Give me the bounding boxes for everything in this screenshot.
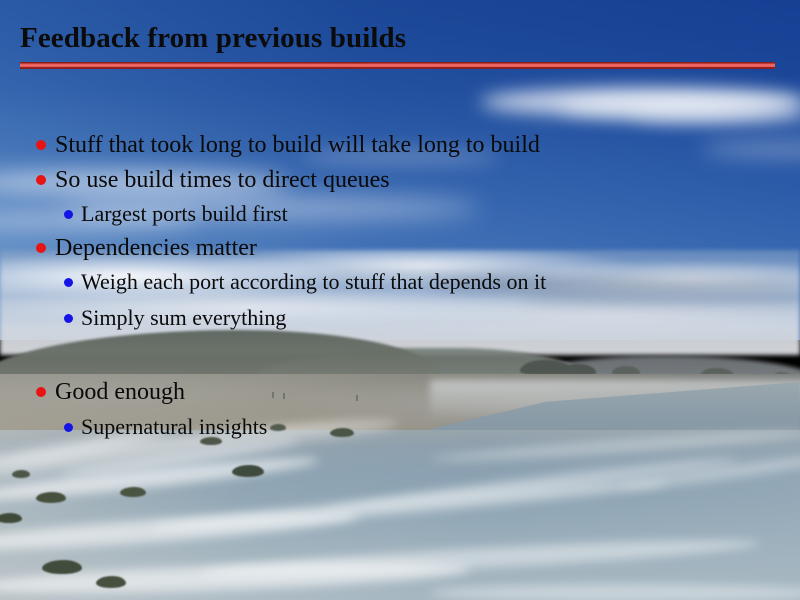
bullet-item-level2: Largest ports build first: [64, 202, 288, 226]
bullet-list: Stuff that took long to build will take …: [0, 0, 800, 600]
bullet-dot-red-icon: [36, 243, 46, 253]
bullet-dot-blue-icon: [64, 423, 73, 432]
bullet-text: Dependencies matter: [55, 235, 257, 261]
slide: Feedback from previous builds Stuff that…: [0, 0, 800, 600]
bullet-text: Simply sum everything: [81, 306, 286, 330]
bullet-text: Supernatural insights: [81, 415, 267, 439]
bullet-text: Good enough: [55, 379, 185, 405]
bullet-dot-red-icon: [36, 387, 46, 397]
bullet-text: So use build times to direct queues: [55, 167, 390, 193]
bullet-dot-blue-icon: [64, 210, 73, 219]
bullet-item-level1: Dependencies matter: [36, 235, 257, 261]
bullet-item-level2: Supernatural insights: [64, 415, 267, 439]
bullet-item-level2: Simply sum everything: [64, 306, 286, 330]
bullet-dot-red-icon: [36, 175, 46, 185]
bullet-text: Largest ports build first: [81, 202, 288, 226]
bullet-item-level2: Weigh each port according to stuff that …: [64, 270, 546, 294]
bullet-text: Stuff that took long to build will take …: [55, 132, 540, 158]
bullet-item-level1: So use build times to direct queues: [36, 167, 390, 193]
bullet-dot-blue-icon: [64, 314, 73, 323]
bullet-dot-red-icon: [36, 140, 46, 150]
bullet-dot-blue-icon: [64, 278, 73, 287]
bullet-item-level1: Good enough: [36, 379, 185, 405]
bullet-text: Weigh each port according to stuff that …: [81, 270, 546, 294]
bullet-item-level1: Stuff that took long to build will take …: [36, 132, 540, 158]
